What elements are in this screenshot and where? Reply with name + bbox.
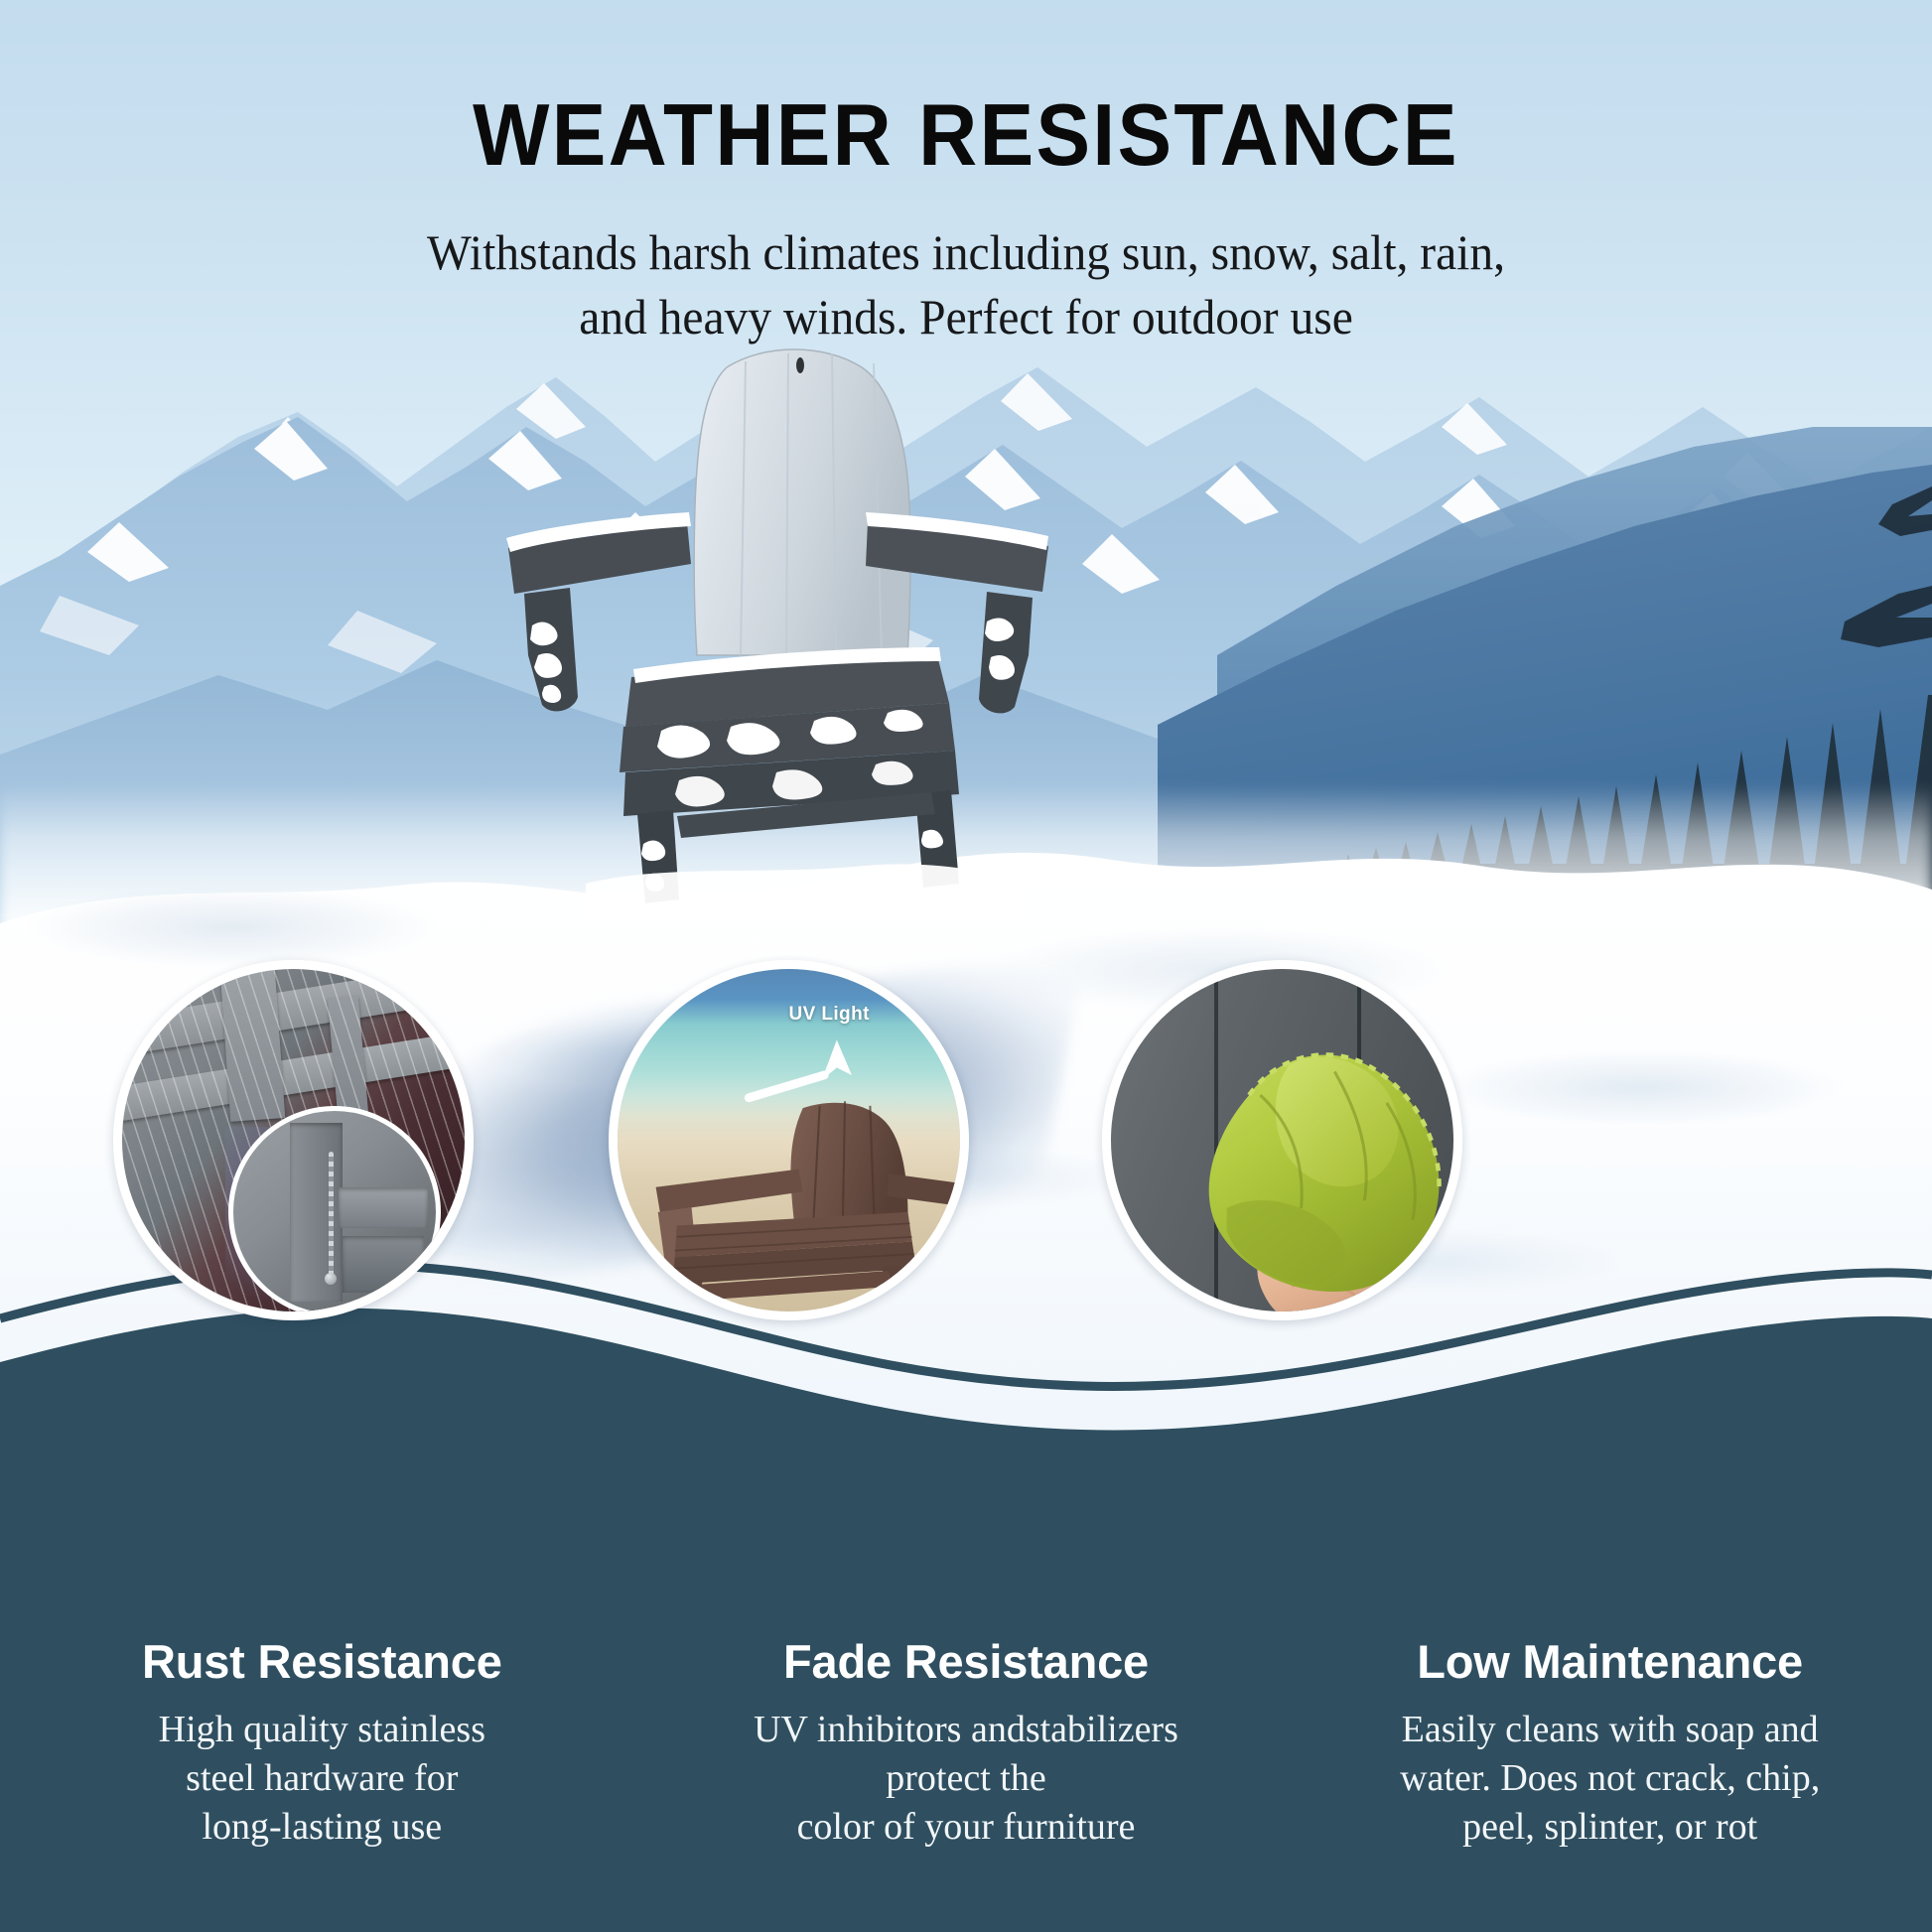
feature-desc-line: High quality stainless (26, 1706, 619, 1754)
header-block: WEATHER RESISTANCE Withstands harsh clim… (0, 0, 1932, 349)
microfiber-cloth (1193, 1044, 1453, 1298)
feature-low-maintenance: Low Maintenance Easily cleans with soap … (1288, 1636, 1932, 1853)
subtitle-line-1: Withstands harsh climates including sun,… (49, 220, 1884, 285)
hardware-closeup-inset (228, 1106, 441, 1318)
feature-fade-resistance: Fade Resistance UV inhibitors andstabili… (644, 1636, 1289, 1853)
feature-desc-line: protect the (670, 1754, 1263, 1803)
feature-desc-line: water. Does not crack, chip, (1313, 1754, 1906, 1803)
feature-title: Rust Resistance (26, 1636, 619, 1688)
feature-desc-line: long-lasting use (26, 1803, 619, 1852)
low-maintenance-image (1102, 960, 1462, 1320)
feature-description: Easily cleans with soap and water. Does … (1313, 1706, 1906, 1853)
feature-desc-line: peel, splinter, or rot (1313, 1803, 1906, 1852)
page-subtitle: Withstands harsh climates including sun,… (49, 220, 1884, 349)
fade-resistance-image: UV Light (609, 960, 969, 1320)
subtitle-line-2: and heavy winds. Perfect for outdoor use (49, 285, 1884, 349)
feature-desc-line: Easily cleans with soap and (1313, 1706, 1906, 1754)
feature-title: Fade Resistance (670, 1636, 1263, 1688)
infographic-canvas: WEATHER RESISTANCE Withstands harsh clim… (0, 0, 1932, 1932)
uv-light-arrow-icon (741, 1037, 878, 1113)
uv-light-label: UV Light (789, 1004, 870, 1026)
feature-rust-resistance: Rust Resistance High quality stainless s… (0, 1636, 644, 1853)
feature-list: Rust Resistance High quality stainless s… (0, 1636, 1932, 1853)
feature-description: High quality stainless steel hardware fo… (26, 1706, 619, 1853)
brown-adirondack-chair (645, 1099, 960, 1320)
page-title: WEATHER RESISTANCE (68, 91, 1864, 179)
feature-title: Low Maintenance (1313, 1636, 1906, 1688)
feature-desc-line: UV inhibitors andstabilizers (670, 1706, 1263, 1754)
feature-desc-line: steel hardware for (26, 1754, 619, 1803)
feature-description: UV inhibitors andstabilizers protect the… (670, 1706, 1263, 1853)
feature-desc-line: color of your furniture (670, 1803, 1263, 1852)
rust-resistance-image (113, 960, 474, 1320)
snow-covered-adirondack-chair (467, 328, 1082, 923)
